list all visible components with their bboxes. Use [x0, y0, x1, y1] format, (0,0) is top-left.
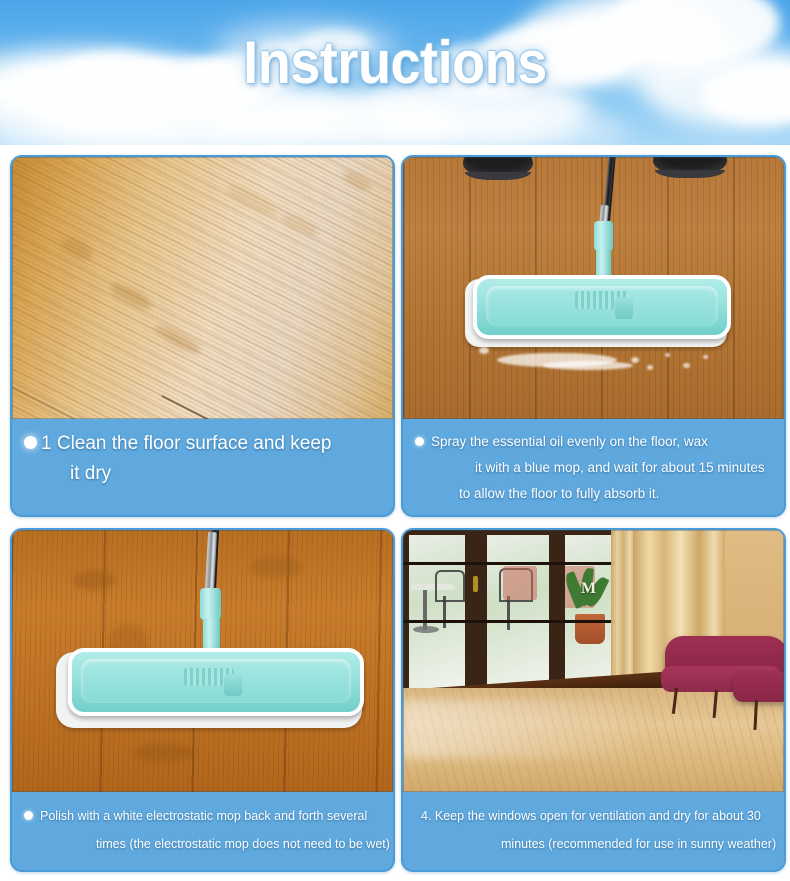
caption-line: Polish with a white electrostatic mop ba…: [24, 802, 379, 830]
caption-line: it with a blue mop, and wait for about 1…: [415, 455, 770, 481]
white-electrostatic-mop-photo: [12, 530, 393, 792]
caption-line: it dry: [24, 459, 379, 489]
sunny-room-ventilation-photo: M: [403, 530, 784, 792]
caption-line: Spray the essential oil evenly on the fl…: [415, 429, 770, 455]
shoe-shape: [463, 157, 533, 177]
sky-banner: Instructions: [0, 0, 790, 145]
step-4-caption: 4. Keep the windows open for ventilation…: [403, 792, 784, 868]
page-title: Instructions: [40, 33, 751, 93]
steps-grid: 1 Clean the floor surface and keep it dr…: [0, 145, 790, 881]
step-card-1[interactable]: 1 Clean the floor surface and keep it dr…: [10, 155, 395, 517]
step-2-caption: Spray the essential oil evenly on the fl…: [403, 419, 784, 517]
step-card-3[interactable]: Polish with a white electrostatic mop ba…: [10, 528, 395, 872]
step-card-2[interactable]: Spray the essential oil evenly on the fl…: [401, 155, 786, 517]
shoe-shape: [653, 157, 727, 175]
caption-line: minutes (recommended for use in sunny we…: [415, 830, 770, 858]
step-card-4[interactable]: M: [401, 528, 786, 872]
step-1-caption: 1 Clean the floor surface and keep it dr…: [12, 419, 393, 499]
light-wood-floor-photo: [12, 157, 393, 419]
caption-line: 4. Keep the windows open for ventilation…: [415, 802, 770, 830]
caption-line: times (the electrostatic mop does not ne…: [24, 830, 379, 858]
caption-line: 1 Clean the floor surface and keep: [24, 429, 379, 459]
cloud-shape: [330, 108, 630, 145]
planter-letter: M: [581, 580, 596, 598]
caption-line: to allow the floor to fully absorb it.: [415, 481, 770, 507]
instructions-page: Instructions 1 Clean the floor surface a…: [0, 0, 790, 881]
bullet-icon: [415, 437, 424, 446]
step-3-caption: Polish with a white electrostatic mop ba…: [12, 792, 393, 868]
mop-spraying-oil-photo: [403, 157, 784, 419]
bullet-icon: [24, 811, 33, 820]
bullet-icon: [24, 436, 37, 449]
